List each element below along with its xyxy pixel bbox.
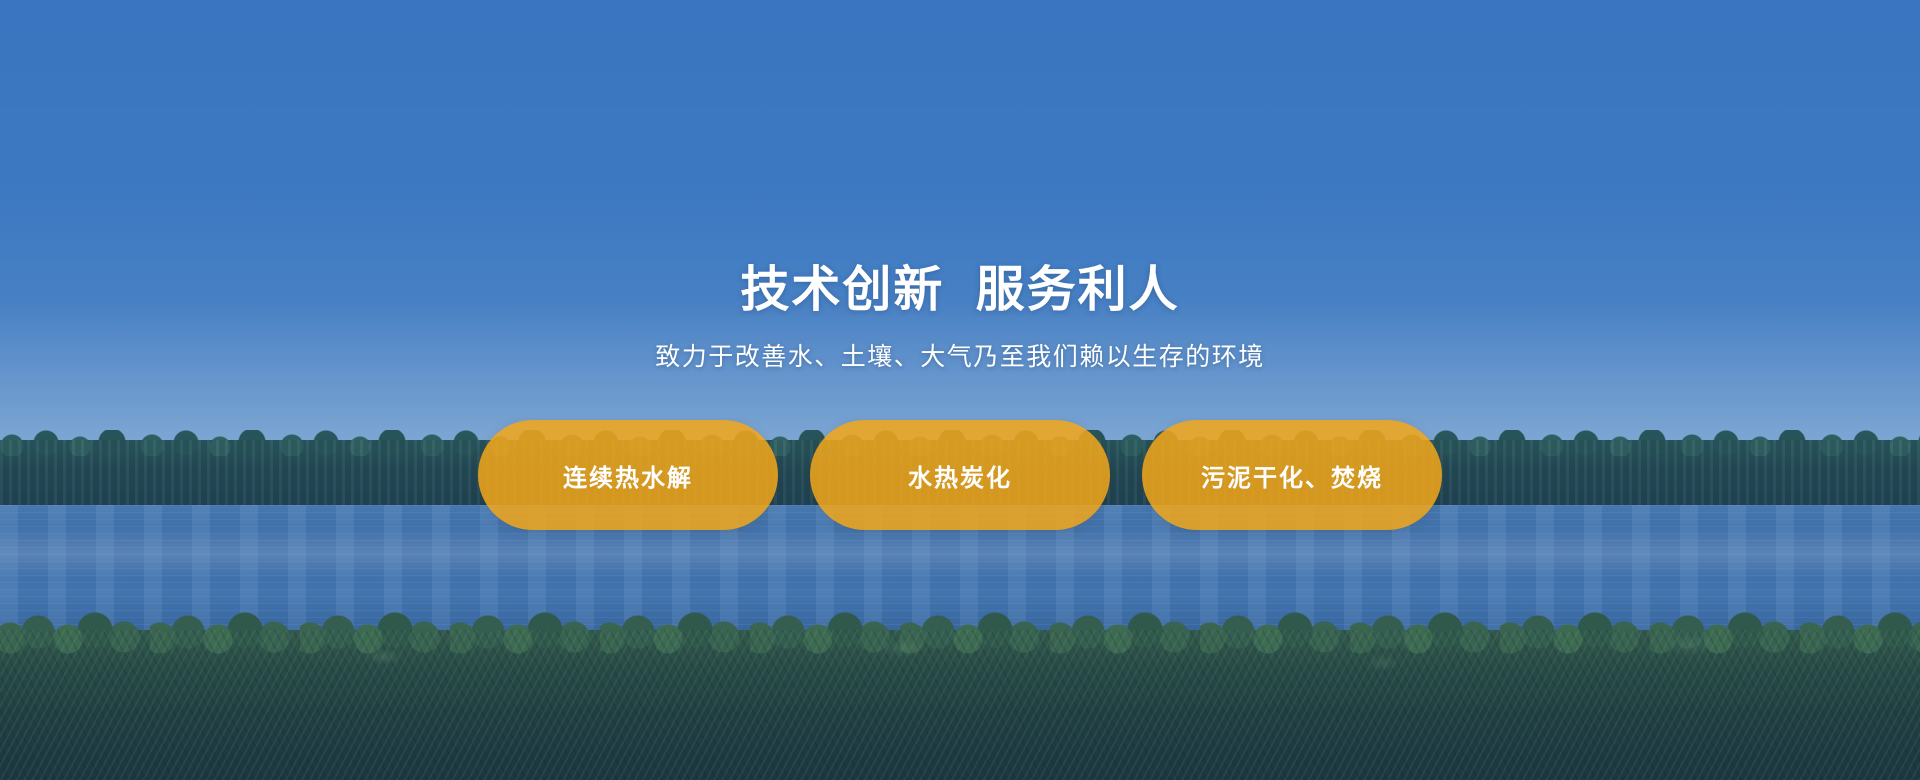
- hero-content: 技术创新 服务利人 致力于改善水、土壤、大气乃至我们赖以生存的环境 连续热水解 …: [0, 0, 1920, 780]
- page-subtitle: 致力于改善水、土壤、大气乃至我们赖以生存的环境: [655, 341, 1265, 374]
- hero-banner: 技术创新 服务利人 致力于改善水、土壤、大气乃至我们赖以生存的环境 连续热水解 …: [0, 0, 1920, 780]
- service-button-row: 连续热水解 水热炭化 污泥干化、焚烧: [478, 420, 1442, 530]
- service-button-sludge-drying-incineration[interactable]: 污泥干化、焚烧: [1142, 420, 1442, 530]
- service-button-hydrothermal-carbonization[interactable]: 水热炭化: [810, 420, 1110, 530]
- page-title: 技术创新 服务利人: [740, 262, 1179, 319]
- service-button-continuous-thermal-hydrolysis[interactable]: 连续热水解: [478, 420, 778, 530]
